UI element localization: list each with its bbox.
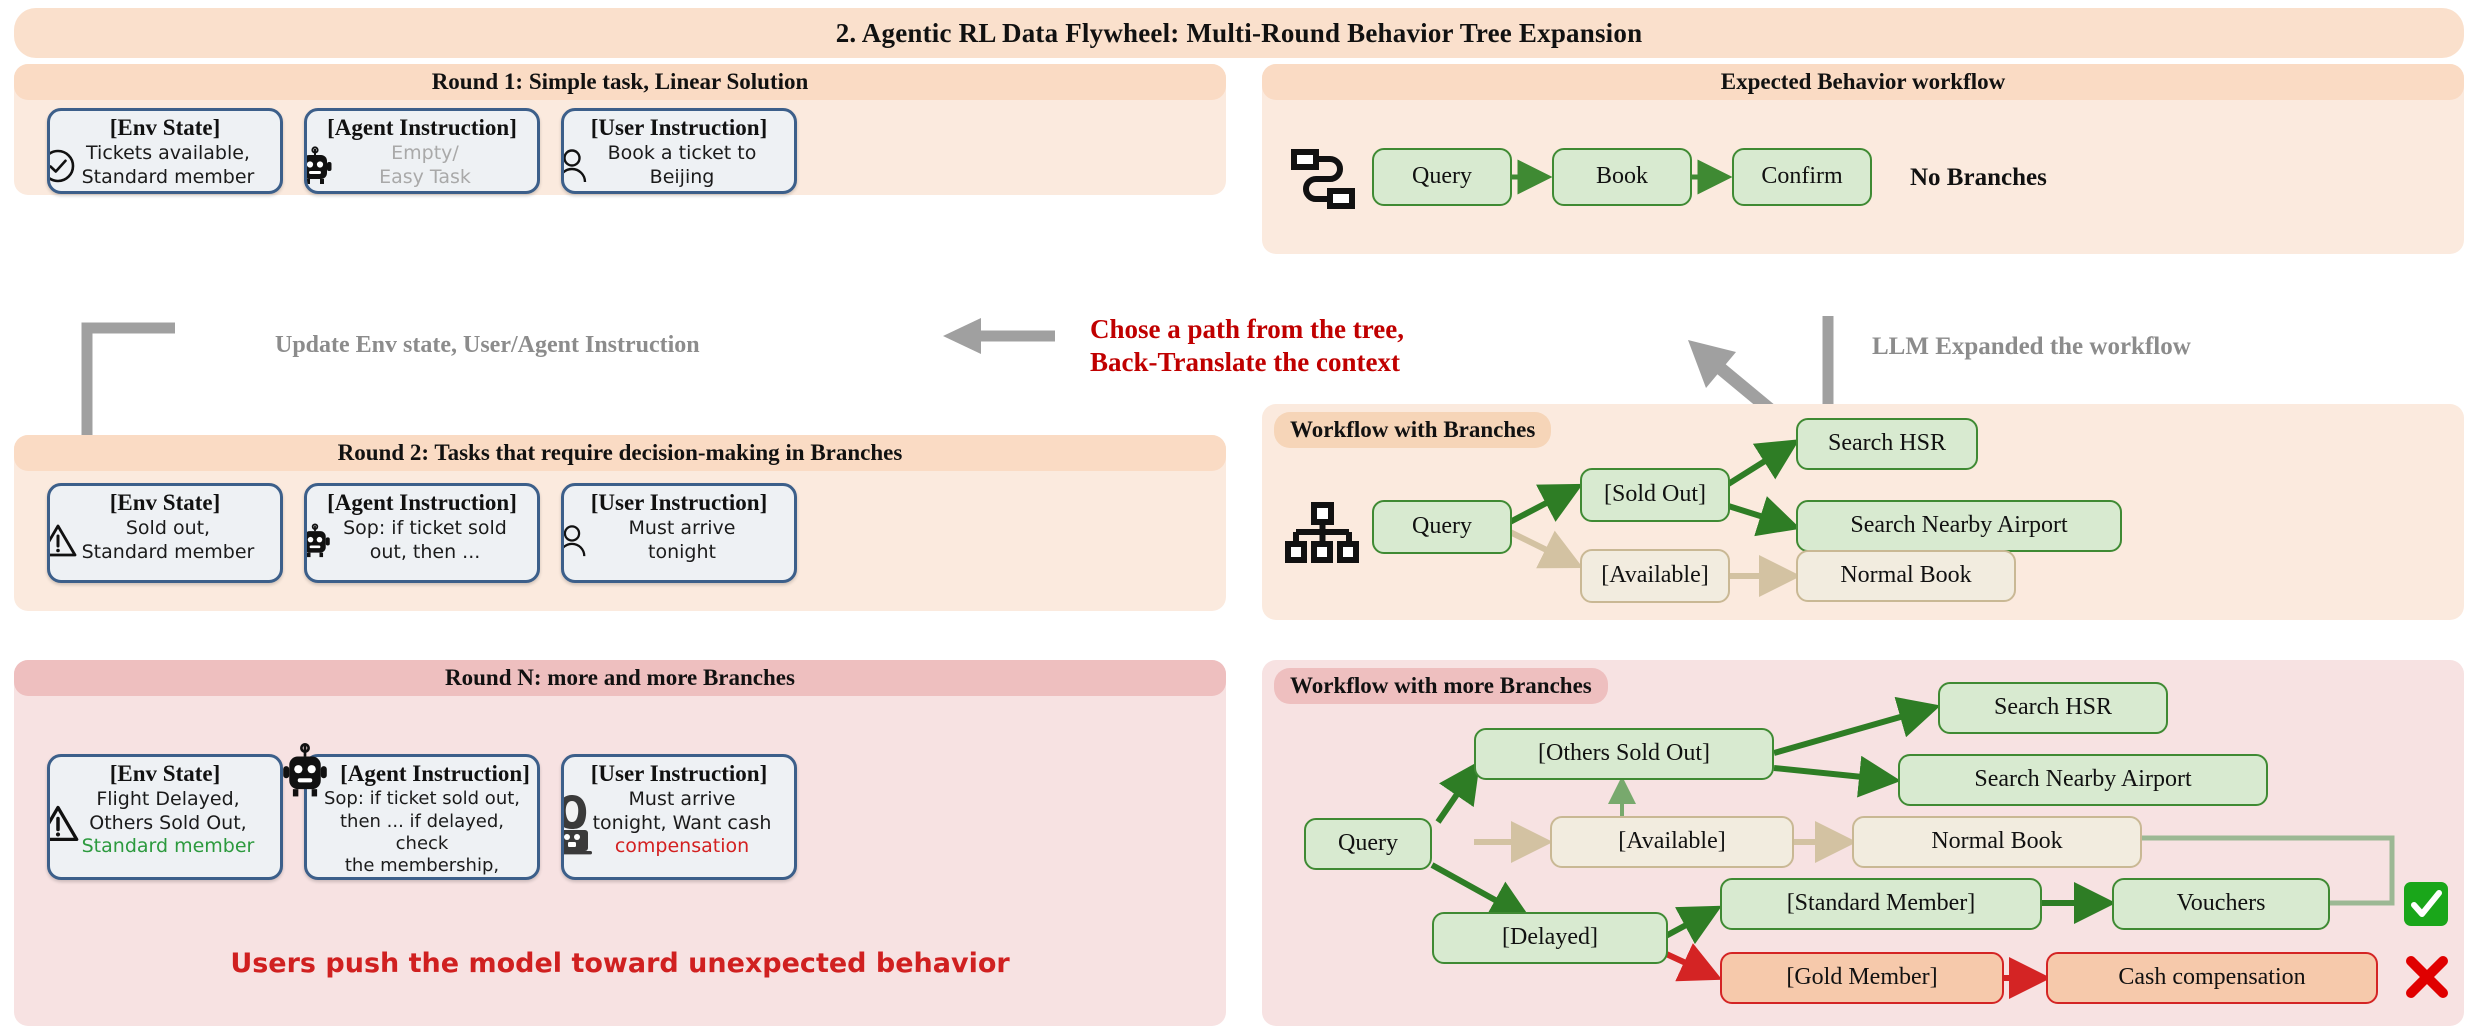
card-text: Sop: if ticket sold out, then ...: [321, 517, 529, 564]
more-node-search-nearby-airport[interactable]: Search Nearby Airport: [1898, 754, 2268, 806]
more-node-vouchers[interactable]: Vouchers: [2112, 878, 2330, 930]
more-node-standard-member[interactable]: [Standard Member]: [1720, 878, 2042, 930]
card-text: Flight Delayed, Others Sold Out, Standar…: [64, 788, 272, 859]
round-1-agent-instruction-card: [Agent Instruction] Empty/ Easy Task: [304, 108, 540, 194]
llm-expanded-label: LLM Expanded the workflow: [1872, 333, 2191, 361]
branches-node-normal-book[interactable]: Normal Book: [1796, 550, 2016, 602]
card-text: Must arrive tonight: [578, 517, 786, 564]
branches-node-search-nearby-airport[interactable]: Search Nearby Airport: [1796, 500, 2122, 552]
no-branches-label: No Branches: [1910, 164, 2047, 192]
more-node-others-sold-out[interactable]: [Others Sold Out]: [1474, 728, 1774, 780]
card-title: [Agent Instruction]: [333, 761, 537, 786]
round-n-env-state-card: [Env State] Flight Delayed, Others Sold …: [47, 754, 283, 880]
more-branches-workflow-panel: Workflow with more Branches: [1262, 660, 2464, 1026]
card-text: Tickets available, Standard member: [64, 142, 272, 189]
page-title: 2. Agentic RL Data Flywheel: Multi-Round…: [14, 8, 2464, 58]
users-push-footnote: Users push the model toward unexpected b…: [14, 948, 1226, 979]
more-node-search-hsr[interactable]: Search HSR: [1938, 682, 2168, 734]
round-2-header: Round 2: Tasks that require decision-mak…: [14, 435, 1226, 471]
round-2-agent-instruction-card: [Agent Instruction] Sop: if ticket sold …: [304, 483, 540, 583]
card-text: Must arrive tonight, Want cash compensat…: [578, 788, 786, 859]
round-1-user-instruction-card: [User Instruction] Book a ticket to Beij…: [561, 108, 797, 194]
branches-node-search-hsr[interactable]: Search HSR: [1796, 418, 1978, 470]
update-env-state-label: Update Env state, User/Agent Instruction: [275, 332, 700, 359]
branches-node-available[interactable]: [Available]: [1580, 549, 1730, 603]
card-text: Sold out, Standard member: [64, 517, 272, 564]
chose-path-label: Chose a path from the tree, Back-Transla…: [1090, 313, 1404, 379]
branches-workflow-panel: Workflow with Branches Query [Sold Out] …: [1262, 404, 2464, 620]
more-node-cash-compensation[interactable]: Cash compensation: [2046, 952, 2378, 1004]
round-1-panel: Round 1: Simple task, Linear Solution [E…: [14, 64, 1226, 195]
round-1-header: Round 1: Simple task, Linear Solution: [14, 64, 1226, 100]
more-node-query[interactable]: Query: [1304, 818, 1432, 870]
card-title: [Agent Instruction]: [307, 490, 537, 515]
card-text: Empty/ Easy Task: [321, 142, 529, 189]
card-text: Book a ticket to Beijing: [578, 142, 786, 189]
card-text: Sop: if ticket sold out, then ... if del…: [315, 788, 529, 880]
round-1-env-state-card: [Env State] Tickets available, Standard …: [47, 108, 283, 194]
round-n-agent-instruction-card: [Agent Instruction] Sop: if ticket sold …: [304, 754, 540, 880]
more-node-gold-member[interactable]: [Gold Member]: [1720, 952, 2004, 1004]
round-2-panel: Round 2: Tasks that require decision-mak…: [14, 435, 1226, 611]
card-title: [Agent Instruction]: [307, 115, 537, 140]
round-2-user-instruction-card: [User Instruction] Must arrive tonight: [561, 483, 797, 583]
card-title: [User Instruction]: [564, 761, 794, 786]
more-node-available[interactable]: [Available]: [1550, 816, 1794, 868]
more-node-delayed[interactable]: [Delayed]: [1432, 912, 1668, 964]
branches-node-query[interactable]: Query: [1372, 500, 1512, 554]
card-title: [Env State]: [50, 761, 280, 786]
branches-node-sold-out[interactable]: [Sold Out]: [1580, 468, 1730, 522]
card-title: [User Instruction]: [564, 490, 794, 515]
round-n-header: Round N: more and more Branches: [14, 660, 1226, 696]
expected-edges: [1262, 64, 2464, 254]
more-node-normal-book[interactable]: Normal Book: [1852, 816, 2142, 868]
card-title: [Env State]: [50, 115, 280, 140]
expected-workflow-panel: Expected Behavior workflow Query Book Co…: [1262, 64, 2464, 254]
card-title: [User Instruction]: [564, 115, 794, 140]
round-n-user-instruction-card: [User Instruction] Must arrive tonight, …: [561, 754, 797, 880]
card-title: [Env State]: [50, 490, 280, 515]
update-left-arrow: [925, 318, 1065, 368]
round-2-env-state-card: [Env State] Sold out, Standard member: [47, 483, 283, 583]
